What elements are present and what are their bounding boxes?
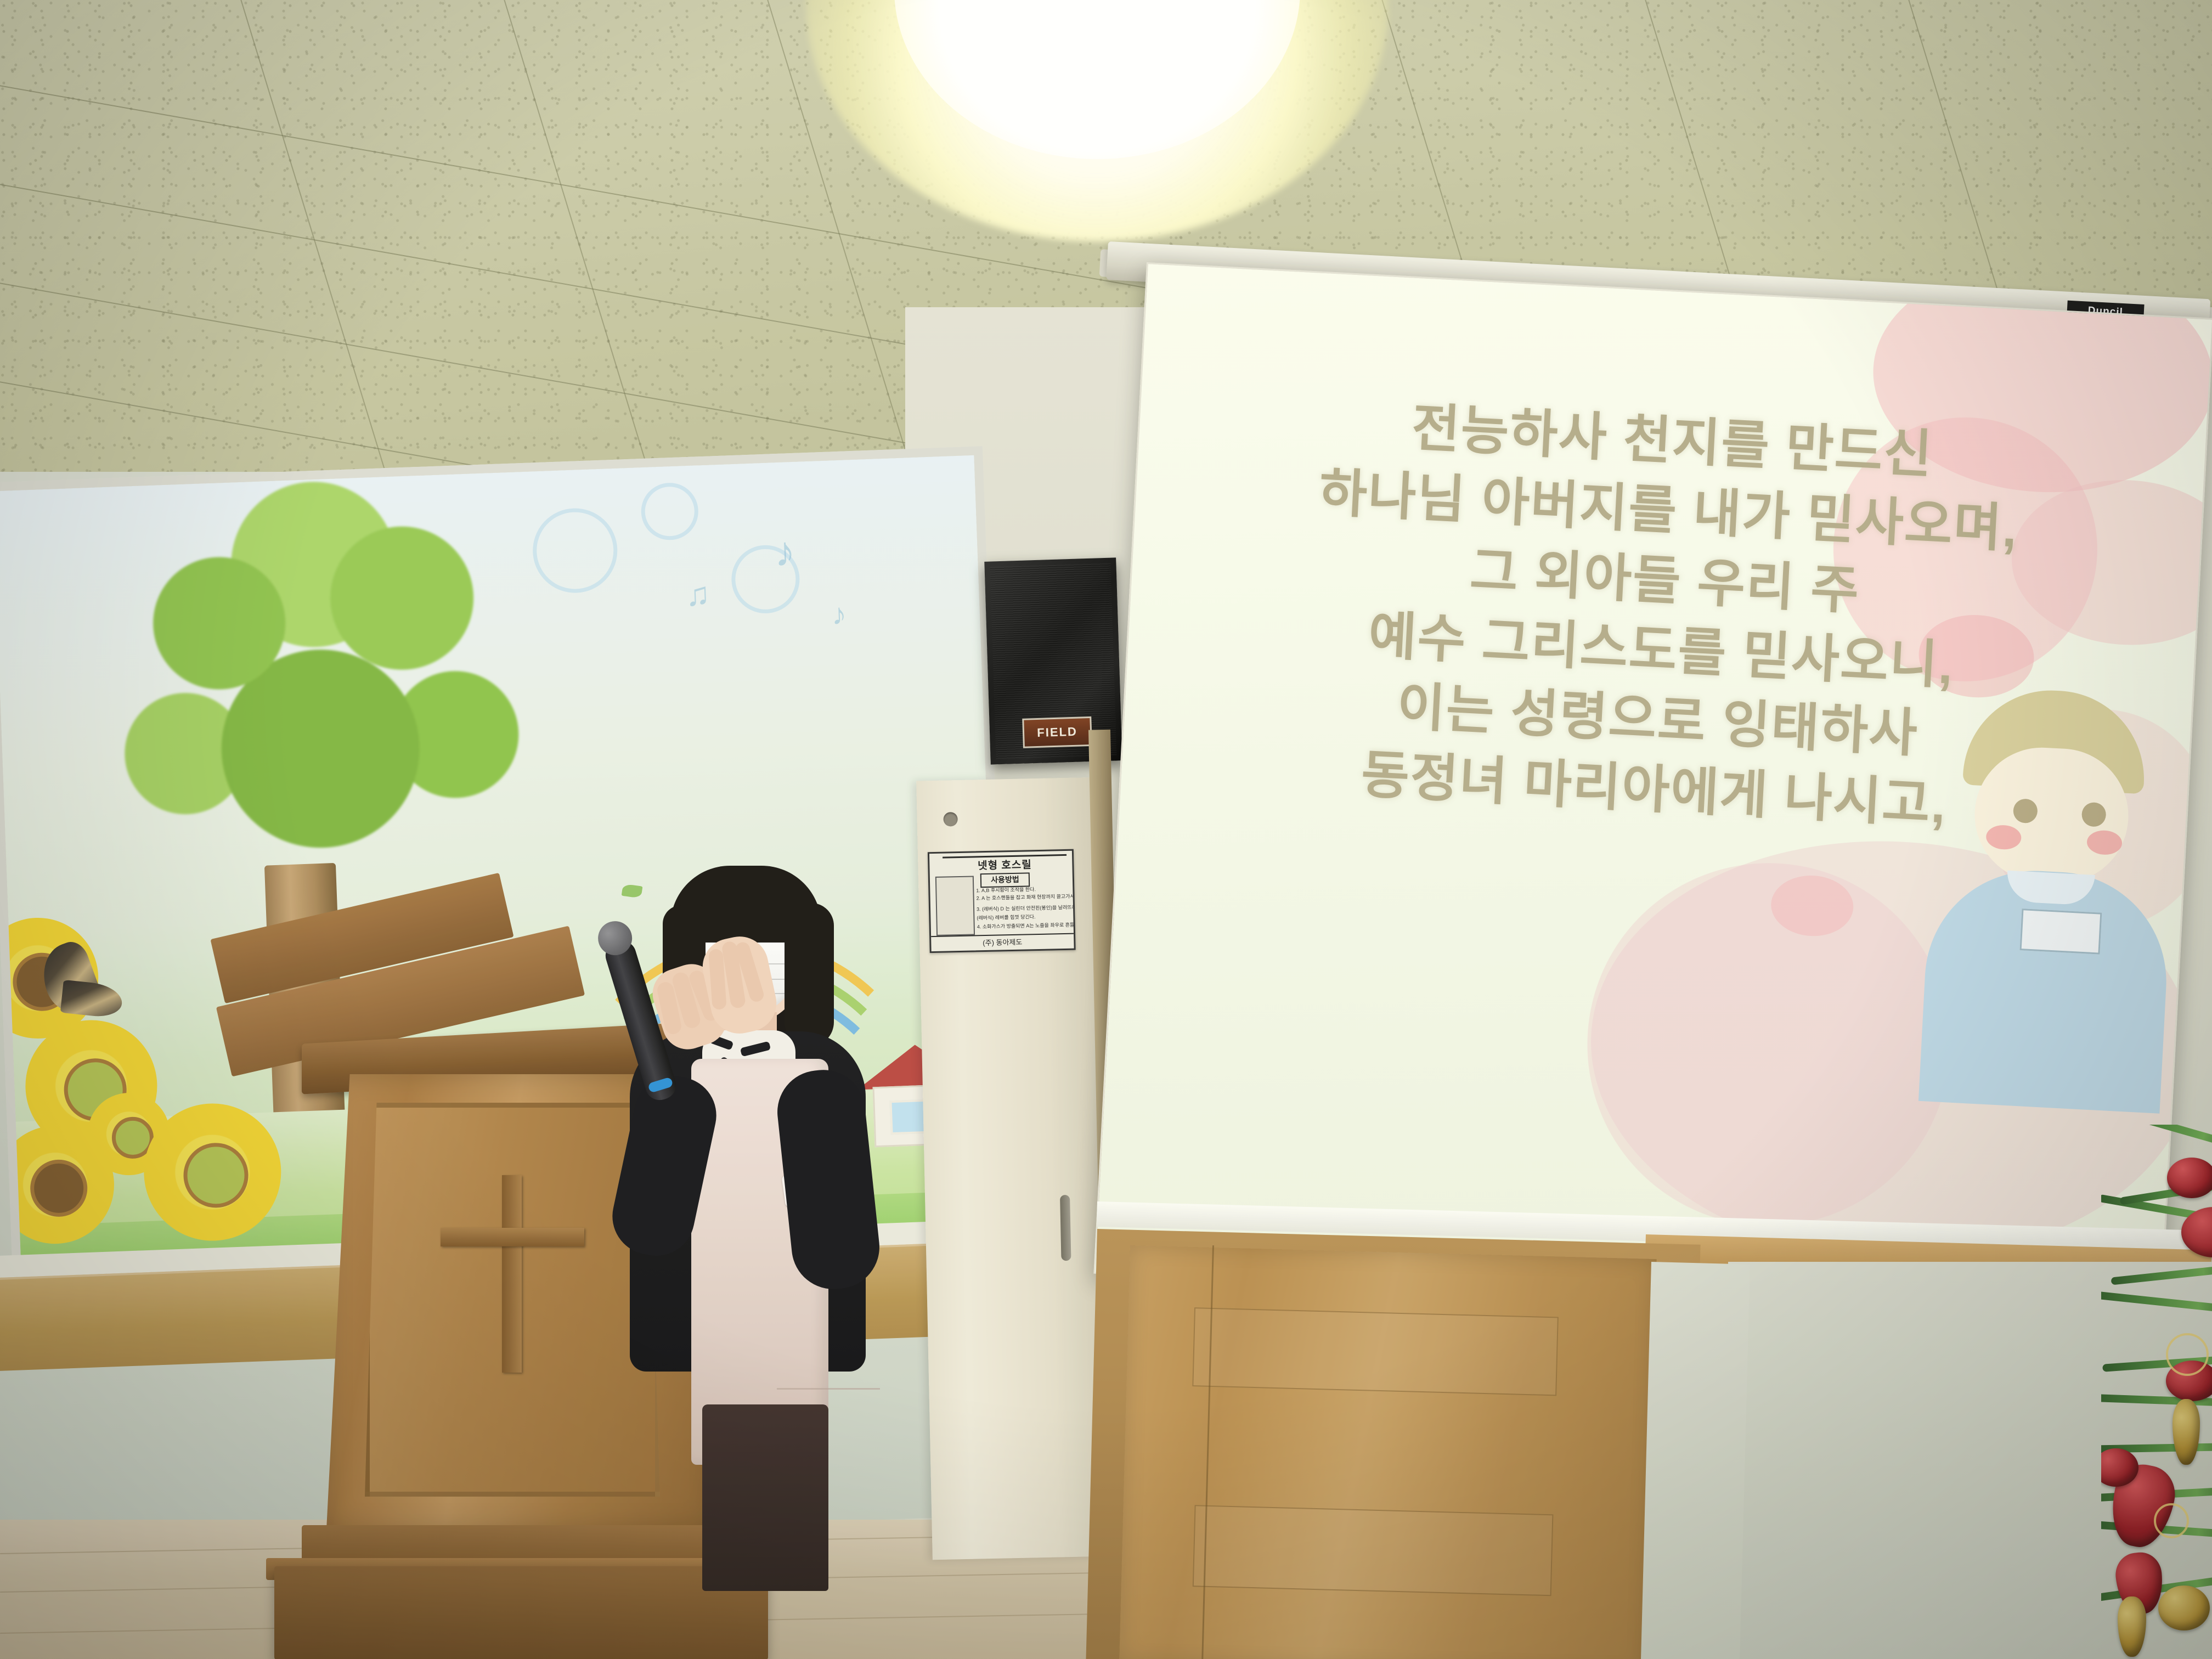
- tree-ornament: [2118, 1596, 2146, 1657]
- tree-ornament: [2158, 1585, 2210, 1630]
- fire-sign-instruction: (레버식) 레버를 힘껏 당긴다.: [977, 913, 1035, 921]
- cabinet-handle[interactable]: [1060, 1195, 1071, 1261]
- cross-icon: [502, 1175, 522, 1373]
- fire-sign-instruction: 4. 소화가스가 방출되면 A는 노즐을 좌우로 흔들어 가스가 불을 완전히 …: [977, 919, 1076, 930]
- tree-branch: [2111, 1265, 2212, 1285]
- fire-sign-instruction: 1. A,B 후시함이 조작을 한다.: [976, 885, 1036, 894]
- scarf-pattern: [740, 1041, 771, 1057]
- door-panel-bottom: [1193, 1505, 1554, 1596]
- slide-cartoon-character: [1929, 685, 2181, 1114]
- music-note-icon: ♫: [685, 575, 710, 614]
- speaker-brand-badge: FIELD: [1022, 716, 1092, 748]
- projection-screen: 전능하사 천지를 만드신 하나님 아버지를 내가 믿사오며, 그 외아들 우리 …: [1093, 262, 2212, 1329]
- tree-branch: [2101, 1291, 2212, 1313]
- hair-side-right: [785, 903, 834, 1047]
- fire-sign-title: 넷형 호스릴: [943, 854, 1067, 873]
- fire-hose-instruction-sign: 넷형 호스릴 사용방법 1. A,B 후시함이 조작을 한다. 2. A 는 호…: [928, 849, 1076, 953]
- microphone-indicator-ring: [647, 1077, 673, 1093]
- fire-sign-instruction: 3. (레버식) D 는 실린더 안전핀(봉인)을 날려뜨려 제거하고 보턴을 …: [977, 902, 1076, 912]
- cabinet-knob[interactable]: [943, 812, 958, 827]
- photo-scene: ♫ ♪ ♪: [0, 0, 2212, 1659]
- tree-ornament: [2167, 1158, 2212, 1198]
- presenter: [620, 856, 905, 1591]
- music-note-icon: ♪: [831, 597, 847, 632]
- mural-swirl: [640, 482, 699, 541]
- tree-tinsel: [2154, 1503, 2189, 1538]
- mural-butterfly: [26, 942, 133, 1028]
- speaker-brand-label: FIELD: [1037, 725, 1077, 740]
- tree-branch: [2112, 1125, 2212, 1149]
- tree-ornament: [2172, 1399, 2200, 1465]
- butterfly-wing: [60, 980, 124, 1019]
- wall-recess: [1641, 1262, 1750, 1659]
- fire-sign-footer: (주) 동아제도: [931, 933, 1074, 951]
- fire-sign-diagram: [935, 876, 975, 935]
- tree-tinsel: [2166, 1333, 2209, 1376]
- sliding-door[interactable]: [1119, 1245, 1657, 1659]
- music-note-icon: ♪: [774, 528, 796, 576]
- lower-garment: [702, 1404, 828, 1591]
- door-panel-top: [1192, 1307, 1559, 1396]
- christmas-tree: VERY MERRY CHRIST: [2101, 1125, 2212, 1659]
- fire-hose-cabinet-pillar: 넷형 호스릴 사용방법 1. A,B 후시함이 조작을 한다. 2. A 는 호…: [916, 777, 1114, 1560]
- apron-pocket: [777, 1388, 880, 1404]
- cartoon-name-tag: [2020, 909, 2102, 955]
- cross-icon: [441, 1228, 584, 1246]
